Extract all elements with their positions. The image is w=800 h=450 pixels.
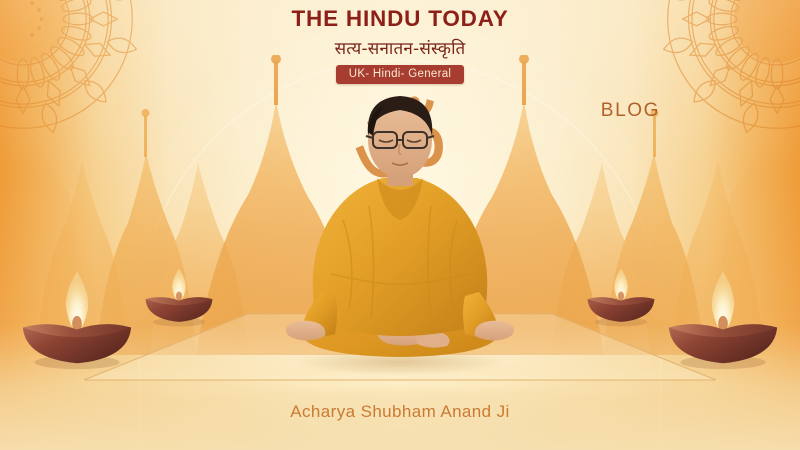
speaker-caption: Acharya Shubham Anand Ji — [0, 402, 800, 422]
category-badge[interactable]: UK- Hindi- General — [336, 65, 465, 84]
site-title: THE HINDU TODAY — [0, 6, 800, 32]
diya-lamp-icon — [660, 256, 786, 372]
diya-lamp-icon — [138, 252, 220, 328]
banner-header: THE HINDU TODAY सत्य-सनातन-संस्कृति UK- … — [0, 6, 800, 84]
diya-lamp-icon — [580, 252, 662, 328]
diya-lamp-icon — [14, 256, 140, 372]
blog-label[interactable]: BLOG — [601, 100, 660, 122]
blog-banner: ॐ — [0, 0, 800, 450]
meditating-monk-icon — [265, 74, 535, 374]
site-subtitle: सत्य-सनातन-संस्कृति — [0, 36, 800, 59]
